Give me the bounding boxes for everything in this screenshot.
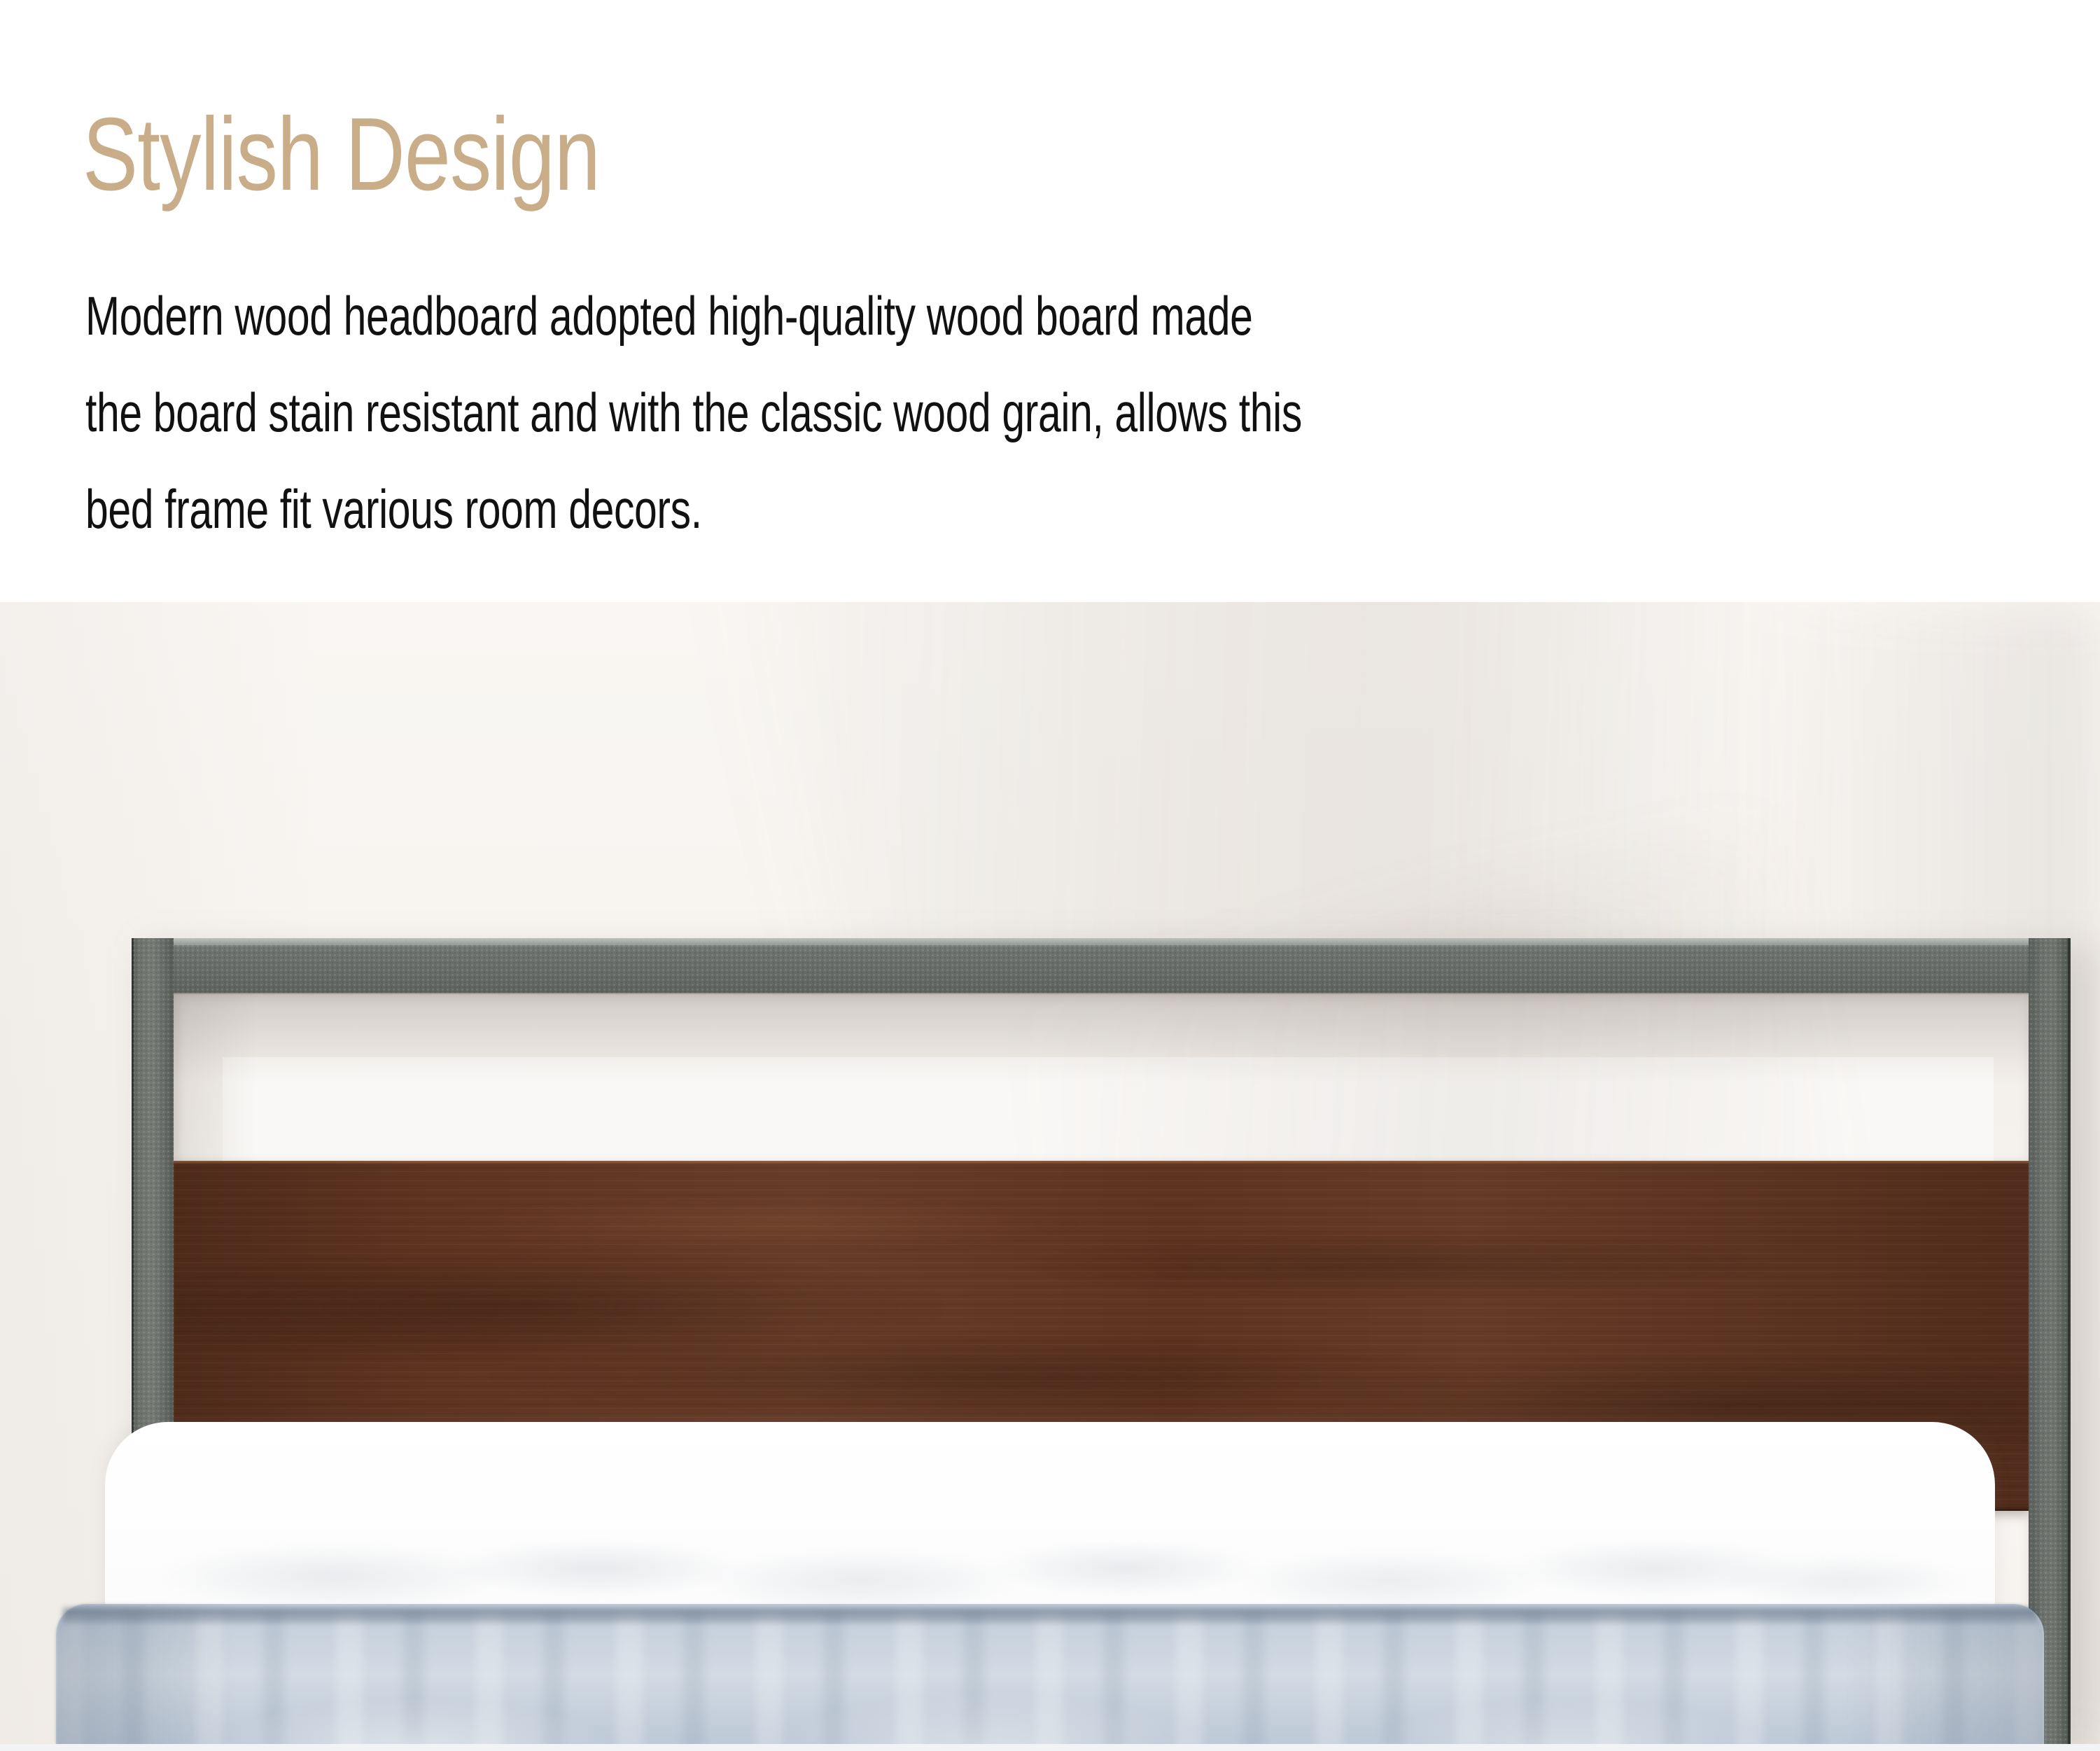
metal-texture <box>132 938 2071 993</box>
description-line-2: the board stain resistant and with the c… <box>85 364 1882 461</box>
wood-top-edge-highlight <box>174 1161 2029 1164</box>
duvet-crease-line <box>63 1608 2037 1624</box>
metal-top-rail <box>132 938 2071 993</box>
product-feature-page: Stylish Design Modern wood headboard ado… <box>0 0 2100 1751</box>
duvet-shading <box>56 1604 2044 1751</box>
image-bottom-edge <box>0 1744 2100 1751</box>
headboard-photo: Modern platform bed headboard with dark … <box>0 602 2100 1751</box>
feature-text-band: Stylish Design Modern wood headboard ado… <box>0 0 2100 602</box>
description-line-1: Modern wood headboard adopted high-quali… <box>85 267 1882 364</box>
bed-bedding <box>0 1422 2100 1751</box>
page-title: Stylish Design <box>83 103 600 207</box>
sheet-folds <box>105 1422 1995 1625</box>
description-line-3: bed frame fit various room decors. <box>85 461 1882 557</box>
feature-description: Modern wood headboard adopted high-quali… <box>85 267 2100 557</box>
